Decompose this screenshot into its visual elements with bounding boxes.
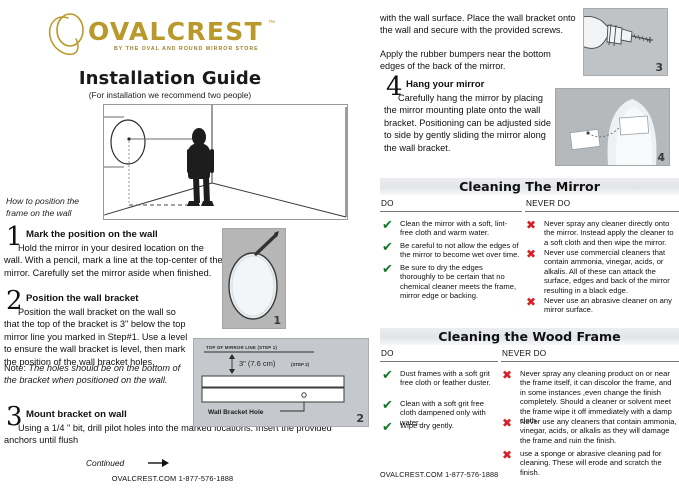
step-4-heading: Hang your mirror <box>406 79 484 90</box>
panel-1-do-item-2: Be careful to not allow the edges of the… <box>400 241 520 260</box>
panel-1-do-rule <box>380 211 522 212</box>
panel-1-never-label: NEVER DO <box>526 199 570 208</box>
cross-icon: ✖ <box>502 449 512 461</box>
check-icon: ✔ <box>382 263 393 276</box>
brand-wordmark: OVALCREST <box>88 19 263 44</box>
step-2-heading: Position the wall bracket <box>26 293 139 304</box>
svg-text:Wall Bracket Hole: Wall Bracket Hole <box>208 409 264 416</box>
mounting-plate-drawing <box>556 89 669 165</box>
right-intro-para-2: Apply the rubber bumpers near the bottom… <box>380 48 578 72</box>
cross-icon: ✖ <box>526 219 536 231</box>
panel-1-never-item-3: Never use an abrasive cleaner on any mir… <box>544 296 676 315</box>
panel-2-header: Cleaning the Wood Frame <box>380 328 679 345</box>
room-perspective-drawing <box>104 105 347 219</box>
figure-1-number: 1 <box>273 314 281 327</box>
step-2-note-label: Note: <box>4 363 26 373</box>
figure-2-number: 2 <box>356 412 364 425</box>
check-icon: ✔ <box>382 241 393 254</box>
panel-2-never-item-3: use a sponge or abrasive cleaning pad fo… <box>520 449 678 477</box>
panel-2-columns: DO NEVER DO ✔ Dust frames with a soft gr… <box>380 345 679 475</box>
check-icon: ✔ <box>382 399 393 412</box>
check-icon: ✔ <box>382 421 393 434</box>
step-1-heading: Mark the position on the wall <box>26 229 158 240</box>
panel-2-never-rule <box>501 361 679 362</box>
figure-4-number: 4 <box>657 151 665 164</box>
panel-1-do-item-3: Be sure to dry the edges thoroughly to b… <box>400 263 520 301</box>
room-diagram-caption: How to position the frame on the wall <box>6 196 101 219</box>
brand-tagline: BY THE OVAL AND ROUND MIRROR STORE <box>114 46 259 52</box>
step-3-heading: Mount bracket on wall <box>26 409 127 420</box>
figure-3-number: 3 <box>655 61 663 74</box>
panel-2-do-item-3: Wipe dry gently. <box>400 421 496 430</box>
step-2-body: Position the wall bracket on the wall so… <box>4 306 190 368</box>
panel-2-title: Cleaning the Wood Frame <box>438 329 620 344</box>
left-column: OVALCREST ™ BY THE OVAL AND ROUND MIRROR… <box>0 0 375 489</box>
figure-2-wall-bracket: TOP OF MIRROR LINE (STEP 1) 3" (7.6 cm) … <box>193 338 369 427</box>
panel-2-do-rule <box>380 361 498 362</box>
panel-2-do-item-1: Dust frames with a soft grit free cloth … <box>400 369 496 388</box>
step-2-note: Note: The holes should be on the bottom … <box>4 362 190 387</box>
panel-2-do-label: DO <box>381 349 394 358</box>
brand-logo: OVALCREST ™ BY THE OVAL AND ROUND MIRROR… <box>40 12 290 60</box>
panel-2-never-label: NEVER DO <box>502 349 546 358</box>
footer-right: OVALCREST.COM 1-877-576-1888 <box>380 470 498 479</box>
continued-label: Continued <box>86 458 266 468</box>
step-4-body: Carefully hang the mirror by placing the… <box>384 92 556 154</box>
check-icon: ✔ <box>382 219 393 232</box>
panel-1-do-item-1: Clean the mirror with a soft, lint-free … <box>400 219 518 238</box>
cross-icon: ✖ <box>526 248 536 260</box>
step-2-note-text: The holes should be on the bottom of the… <box>4 363 180 385</box>
figure-4-hang-mirror: 4 <box>555 88 670 166</box>
panel-1-title: Cleaning The Mirror <box>459 179 600 194</box>
arrow-right-icon <box>148 458 170 468</box>
panel-1-header: Cleaning The Mirror <box>380 178 679 195</box>
cross-icon: ✖ <box>502 417 512 429</box>
panel-1-never-item-2: Never use commercial cleaners that conta… <box>544 248 676 295</box>
panel-1-never-item-1: Never spray any cleaner directly onto th… <box>544 219 676 247</box>
step-1-body: Hold the mirror in your desired location… <box>4 242 224 279</box>
wall-bracket-drawing: TOP OF MIRROR LINE (STEP 1) 3" (7.6 cm) … <box>194 339 368 426</box>
panel-1-columns: DO NEVER DO ✔ Clean the mirror with a so… <box>380 195 679 323</box>
figure-1-oval-mirror: 1 <box>222 228 286 329</box>
panel-cleaning-wood-frame: Cleaning the Wood Frame DO NEVER DO ✔ Du… <box>380 328 679 475</box>
cross-icon: ✖ <box>526 296 536 308</box>
trademark-icon: ™ <box>268 20 275 27</box>
figure-room-positioning <box>103 104 348 220</box>
page-subtitle: (For installation we recommend two peopl… <box>0 90 340 100</box>
right-intro-para-1: with the wall surface. Place the wall br… <box>380 12 578 36</box>
panel-cleaning-mirror: Cleaning The Mirror DO NEVER DO ✔ Clean … <box>380 178 679 323</box>
footer-left: OVALCREST.COM 1-877-576-1888 <box>0 474 345 483</box>
cross-icon: ✖ <box>502 369 512 381</box>
page-title: Installation Guide <box>0 68 340 89</box>
check-icon: ✔ <box>382 369 393 382</box>
svg-text:TOP OF MIRROR LINE (STEP 1): TOP OF MIRROR LINE (STEP 1) <box>206 345 277 350</box>
panel-1-never-rule <box>525 211 679 212</box>
svg-text:(STEP 2): (STEP 2) <box>291 362 310 367</box>
figure-3-drilling: 3 <box>583 8 668 76</box>
panel-1-do-label: DO <box>381 199 394 208</box>
panel-2-never-item-2: Never use any cleaners that contain ammo… <box>520 417 678 445</box>
svg-text:3" (7.6 cm): 3" (7.6 cm) <box>239 359 276 368</box>
installation-guide-page: OVALCREST ™ BY THE OVAL AND ROUND MIRROR… <box>0 0 679 489</box>
